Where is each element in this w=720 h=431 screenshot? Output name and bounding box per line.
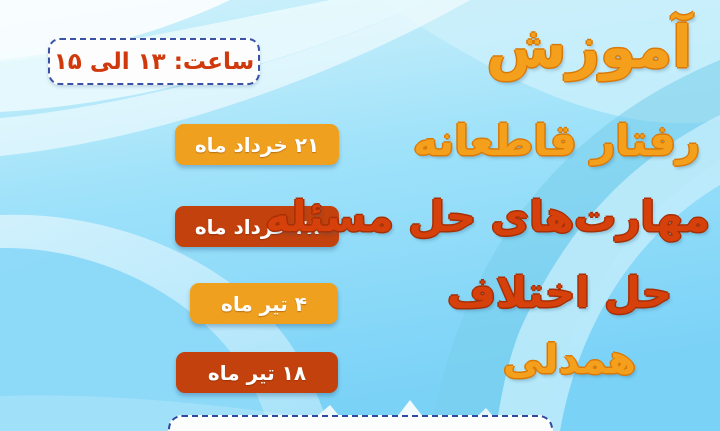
date-chip-1-label: ۲۱ خرداد ماه <box>195 133 319 157</box>
poster-root: ساعت: ۱۳ الی ۱۵ ۲۱ خرداد ماه ۲۸ خرداد ما… <box>0 0 720 431</box>
topic-assertive-behavior: رفتار قاطعانه <box>413 120 700 162</box>
date-chip-4[interactable]: ۱۸ تیر ماه <box>176 352 338 393</box>
date-chip-1[interactable]: ۲۱ خرداد ماه <box>175 124 339 165</box>
bottom-banner-label <box>170 417 551 431</box>
topic-empathy: همدلی <box>503 340 636 380</box>
poster-title: آموزش <box>486 18 692 76</box>
bottom-banner <box>168 415 553 431</box>
date-chip-3[interactable]: ۴ تیر ماه <box>190 283 338 324</box>
date-chip-4-label: ۱۸ تیر ماه <box>208 361 306 385</box>
time-label: ساعت: ۱۳ الی ۱۵ <box>54 49 255 75</box>
topic-problem-solving-skills: مهارت‌های حل مسئله <box>265 196 710 238</box>
date-chip-3-label: ۴ تیر ماه <box>221 292 307 316</box>
headings-column: آموزش رفتار قاطعانه مهارت‌های حل مسئله ح… <box>355 0 720 431</box>
topic-conflict-resolution: حل اختلاف <box>447 272 672 314</box>
time-box: ساعت: ۱۳ الی ۱۵ <box>48 38 260 85</box>
